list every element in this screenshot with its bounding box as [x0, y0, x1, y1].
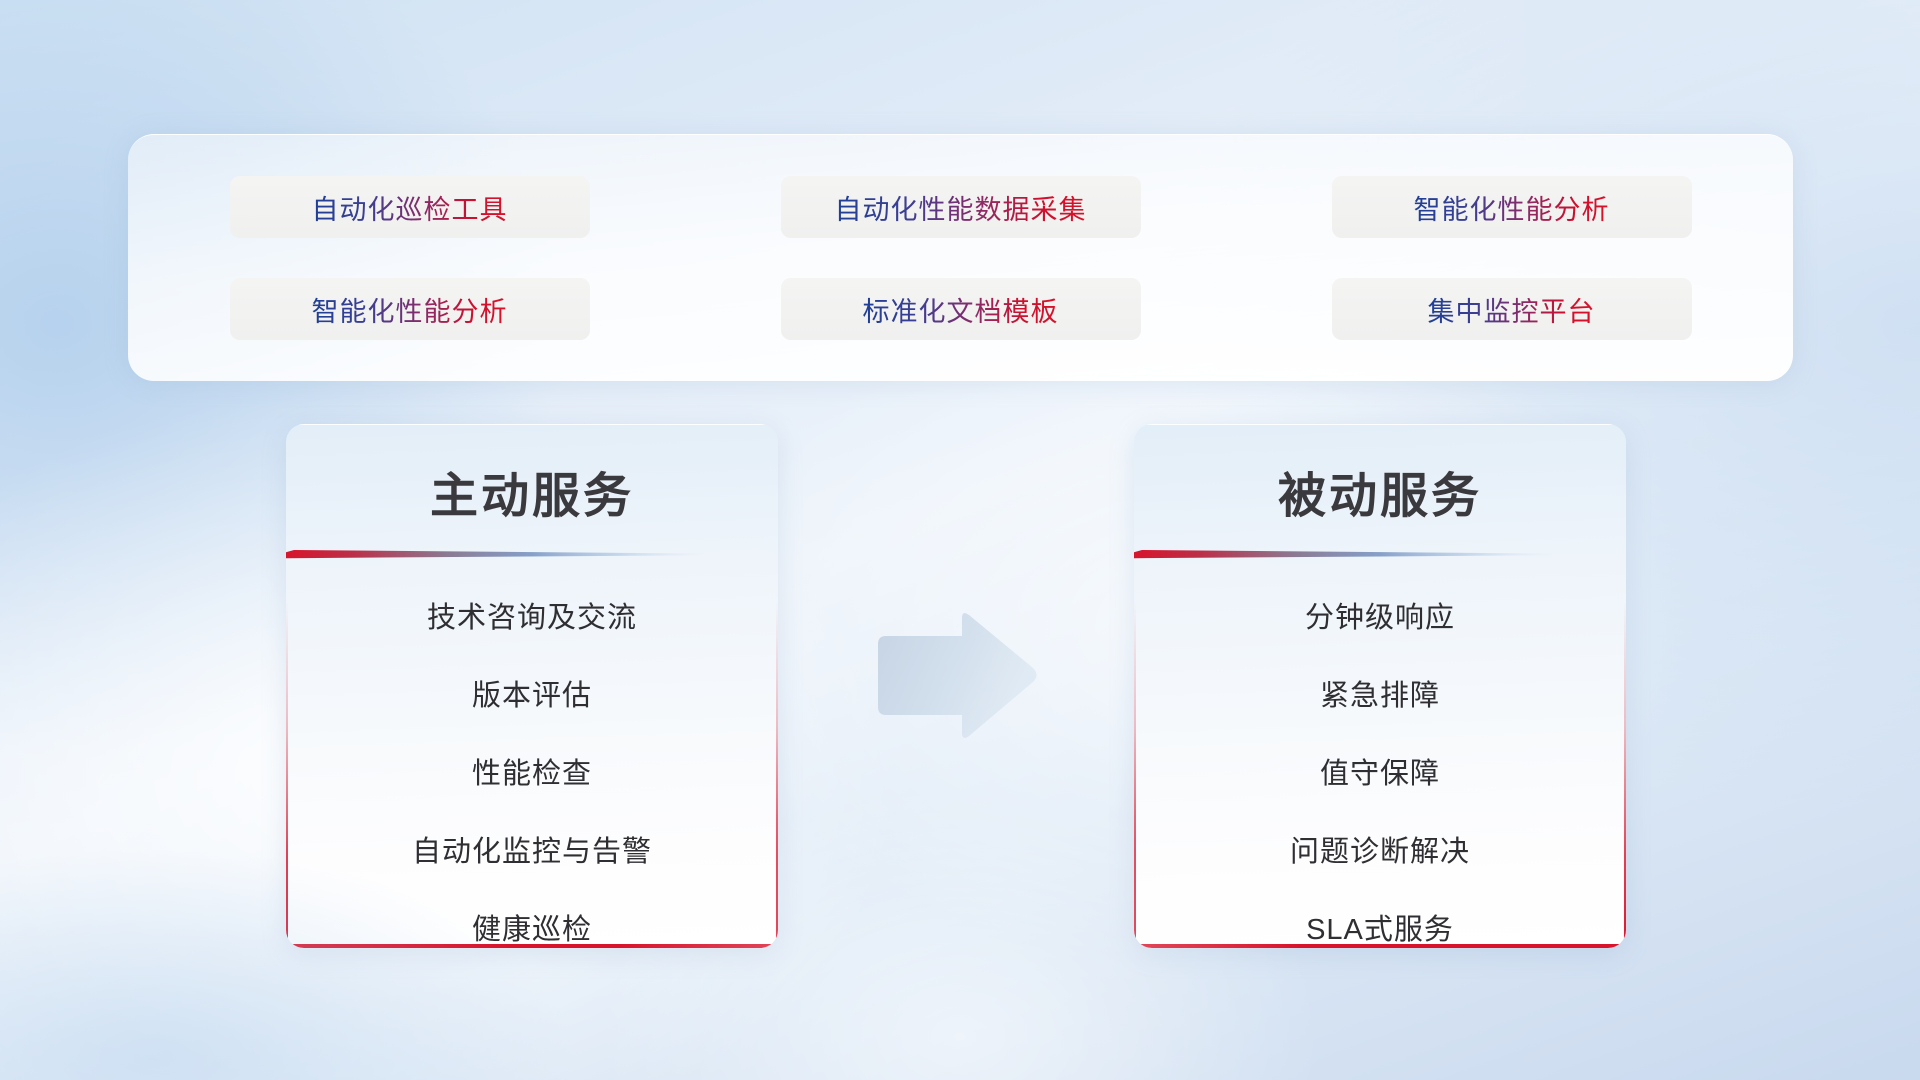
flow-arrow-right-icon	[866, 610, 1038, 742]
service-list-item: 自动化监控与告警	[286, 838, 778, 867]
capability-pill[interactable]: 自动化性能数据采集	[781, 176, 1141, 238]
capability-pill-label: 智能化性能分析	[312, 290, 508, 329]
service-list-item: 问题诊断解决	[1134, 838, 1626, 867]
capability-pill-label: 自动化性能数据采集	[835, 188, 1087, 227]
service-item-list: 技术咨询及交流 版本评估 性能检查 自动化监控与告警 健康巡检	[286, 604, 778, 945]
capability-pill[interactable]: 自动化巡检工具	[230, 176, 590, 238]
capability-pill[interactable]: 标准化文档模板	[781, 278, 1141, 340]
capability-pill-grid: 自动化巡检工具 自动化性能数据采集 智能化性能分析 智能化性能分析 标准化文档模…	[230, 176, 1692, 340]
service-list-item: 性能检查	[286, 760, 778, 789]
capabilities-panel: 自动化巡检工具 自动化性能数据采集 智能化性能分析 智能化性能分析 标准化文档模…	[128, 134, 1793, 381]
service-list-item: 值守保障	[1134, 760, 1626, 789]
slide-canvas: 自动化巡检工具 自动化性能数据采集 智能化性能分析 智能化性能分析 标准化文档模…	[0, 0, 1920, 1080]
capability-pill-label: 标准化文档模板	[863, 290, 1059, 329]
capability-pill[interactable]: 智能化性能分析	[1332, 176, 1692, 238]
capability-pill[interactable]: 集中监控平台	[1332, 278, 1692, 340]
service-card-title: 被动服务	[1134, 456, 1626, 526]
service-list-item: 分钟级响应	[1134, 604, 1626, 633]
service-card-title: 主动服务	[286, 456, 778, 526]
service-list-item: 紧急排障	[1134, 682, 1626, 711]
capability-pill[interactable]: 智能化性能分析	[230, 278, 590, 340]
service-list-item: 健康巡检	[286, 916, 778, 945]
capability-pill-label: 集中监控平台	[1428, 290, 1596, 329]
service-card-proactive: 主动服务 技术咨询及交流 版本评估 性能检查 自动化监控与告警 健康巡检	[286, 424, 778, 948]
service-list-item: 技术咨询及交流	[286, 604, 778, 633]
card-edge-top	[286, 424, 778, 425]
service-card-reactive: 被动服务 分钟级响应 紧急排障 值守保障 问题诊断解决 SLA式服务	[1134, 424, 1626, 948]
card-edge-top	[1134, 424, 1626, 425]
service-list-item: 版本评估	[286, 682, 778, 711]
card-title-divider	[286, 550, 710, 559]
service-list-item: SLA式服务	[1134, 916, 1626, 945]
service-item-list: 分钟级响应 紧急排障 值守保障 问题诊断解决 SLA式服务	[1134, 604, 1626, 945]
card-title-divider	[1134, 550, 1558, 559]
capability-pill-label: 自动化巡检工具	[312, 188, 508, 227]
capability-pill-label: 智能化性能分析	[1414, 188, 1610, 227]
